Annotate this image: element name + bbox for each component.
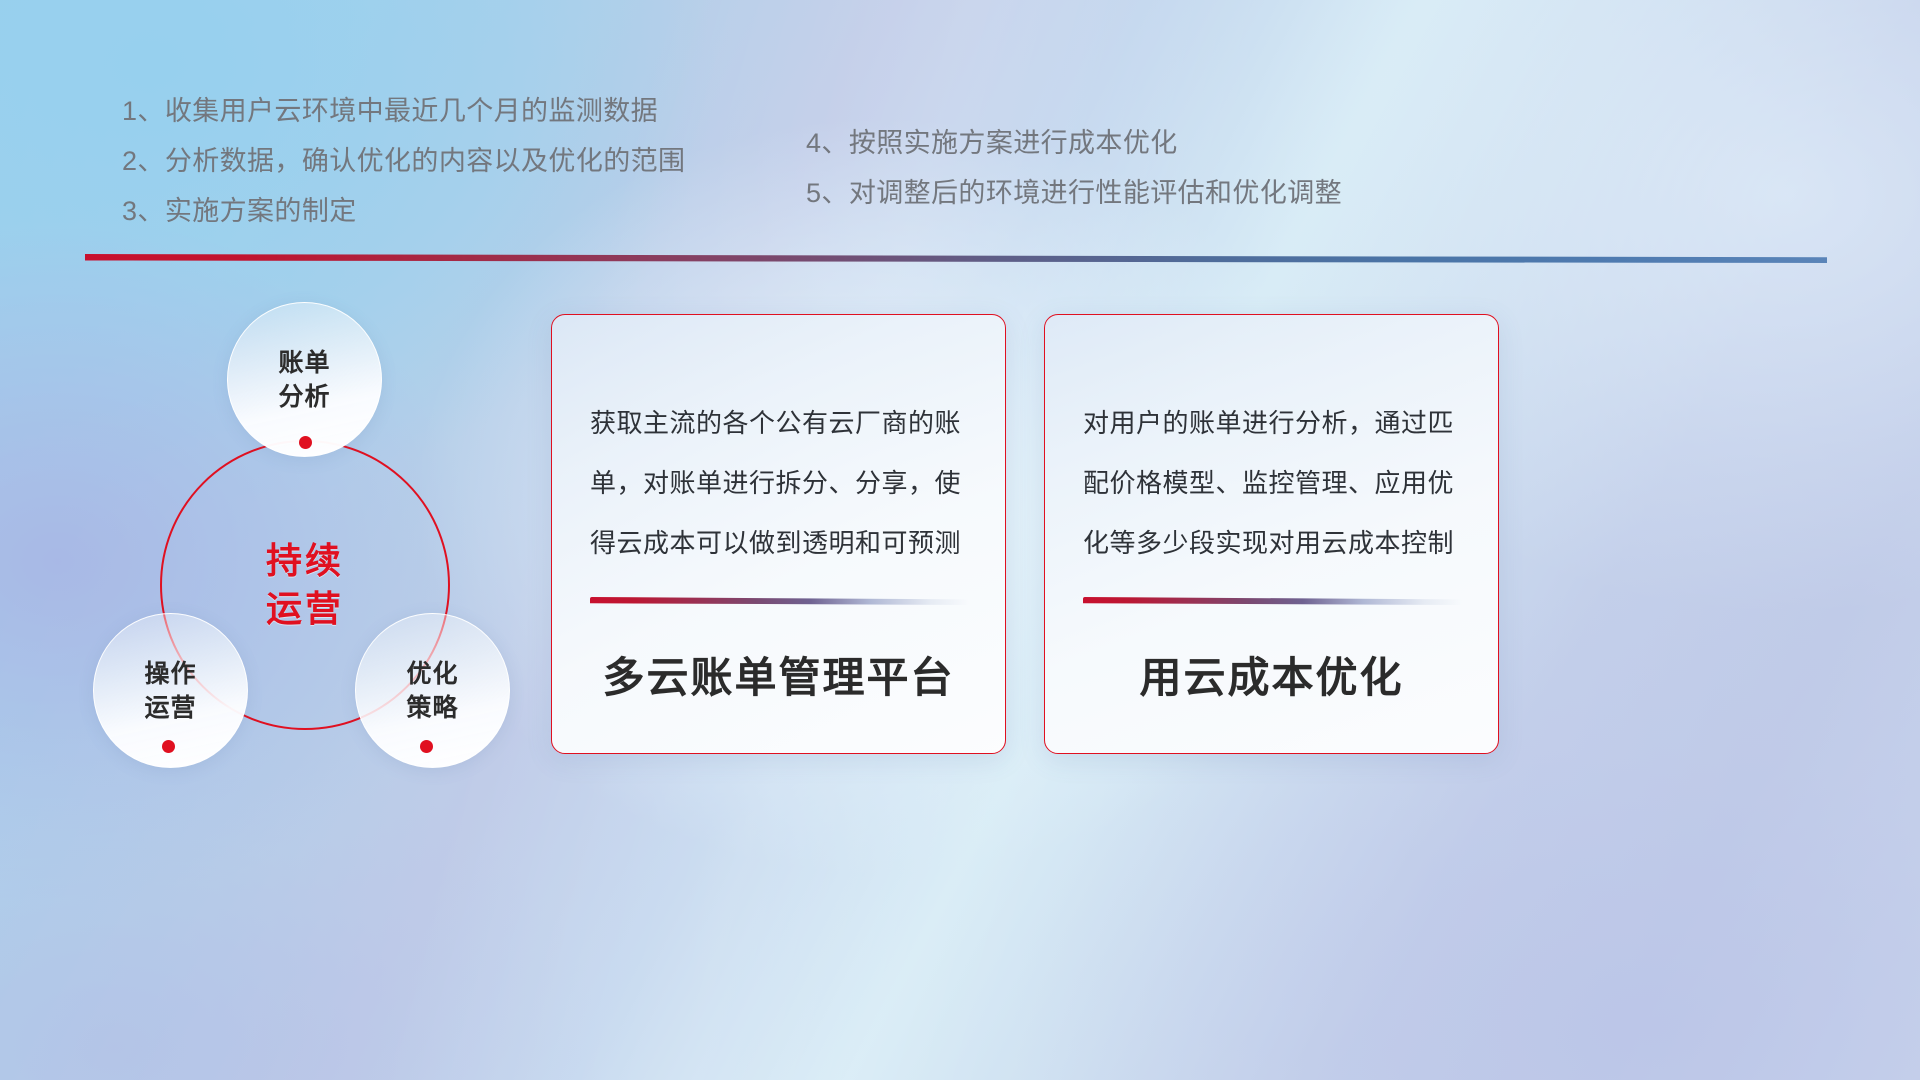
bubble-top-line-2: 分析 [278, 383, 330, 411]
diagram-bubble-label: 操作 运营 [144, 657, 196, 725]
step-item-5: 5、对调整后的环境进行性能评估和优化调整 [806, 168, 1342, 218]
step-item-1: 1、收集用户云环境中最近几个月的监测数据 [122, 86, 685, 136]
bubble-left-line-2: 运营 [144, 694, 196, 722]
section-divider-bar [85, 254, 1827, 263]
card-divider [590, 597, 969, 605]
diagram-bubble-label: 账单 分析 [278, 346, 330, 414]
bubble-top-line-1: 账单 [278, 349, 330, 377]
card-body-text: 对用户的账单进行分析，通过匹配价格模型、监控管理、应用优化等多少段实现对用云成本… [1083, 393, 1460, 573]
steps-column-right: 4、按照实施方案进行成本优化 5、对调整后的环境进行性能评估和优化调整 [806, 118, 1342, 218]
card-divider [1083, 597, 1462, 605]
diagram-bubble-label: 优化 策略 [406, 657, 458, 725]
card-title: 用云成本优化 [1045, 644, 1498, 705]
step-item-2: 2、分析数据，确认优化的内容以及优化的范围 [122, 136, 685, 186]
diagram-node-dot-left [162, 740, 175, 753]
diagram-bubble-bill-analysis[interactable]: 账单 分析 [227, 302, 382, 457]
section-divider [85, 254, 1827, 263]
steps-section: 1、收集用户云环境中最近几个月的监测数据 2、分析数据，确认优化的内容以及优化的… [0, 86, 1920, 246]
card-cloud-cost-optimization[interactable]: 对用户的账单进行分析，通过匹配价格模型、监控管理、应用优化等多少段实现对用云成本… [1044, 314, 1499, 754]
card-title: 多云账单管理平台 [552, 644, 1005, 705]
card-body-text: 获取主流的各个公有云厂商的账单，对账单进行拆分、分享，使得云成本可以做到透明和可… [590, 393, 967, 573]
step-item-3: 3、实施方案的制定 [122, 186, 685, 236]
continuous-operation-diagram: 持续 运营 账单 分析 操作 运营 优化 策略 [75, 288, 545, 768]
diagram-center-line-1: 持续 [266, 540, 344, 581]
diagram-node-dot-right [420, 740, 433, 753]
steps-column-left: 1、收集用户云环境中最近几个月的监测数据 2、分析数据，确认优化的内容以及优化的… [122, 86, 685, 236]
diagram-center-line-2: 运营 [266, 588, 344, 629]
step-item-4: 4、按照实施方案进行成本优化 [806, 118, 1342, 168]
bubble-right-line-1: 优化 [406, 660, 458, 688]
bubble-left-line-1: 操作 [144, 660, 196, 688]
diagram-center-label: 持续 运营 [266, 537, 344, 633]
diagram-node-dot-top [299, 436, 312, 449]
card-multi-cloud-bill-platform[interactable]: 获取主流的各个公有云厂商的账单，对账单进行拆分、分享，使得云成本可以做到透明和可… [551, 314, 1006, 754]
bubble-right-line-2: 策略 [406, 694, 458, 722]
